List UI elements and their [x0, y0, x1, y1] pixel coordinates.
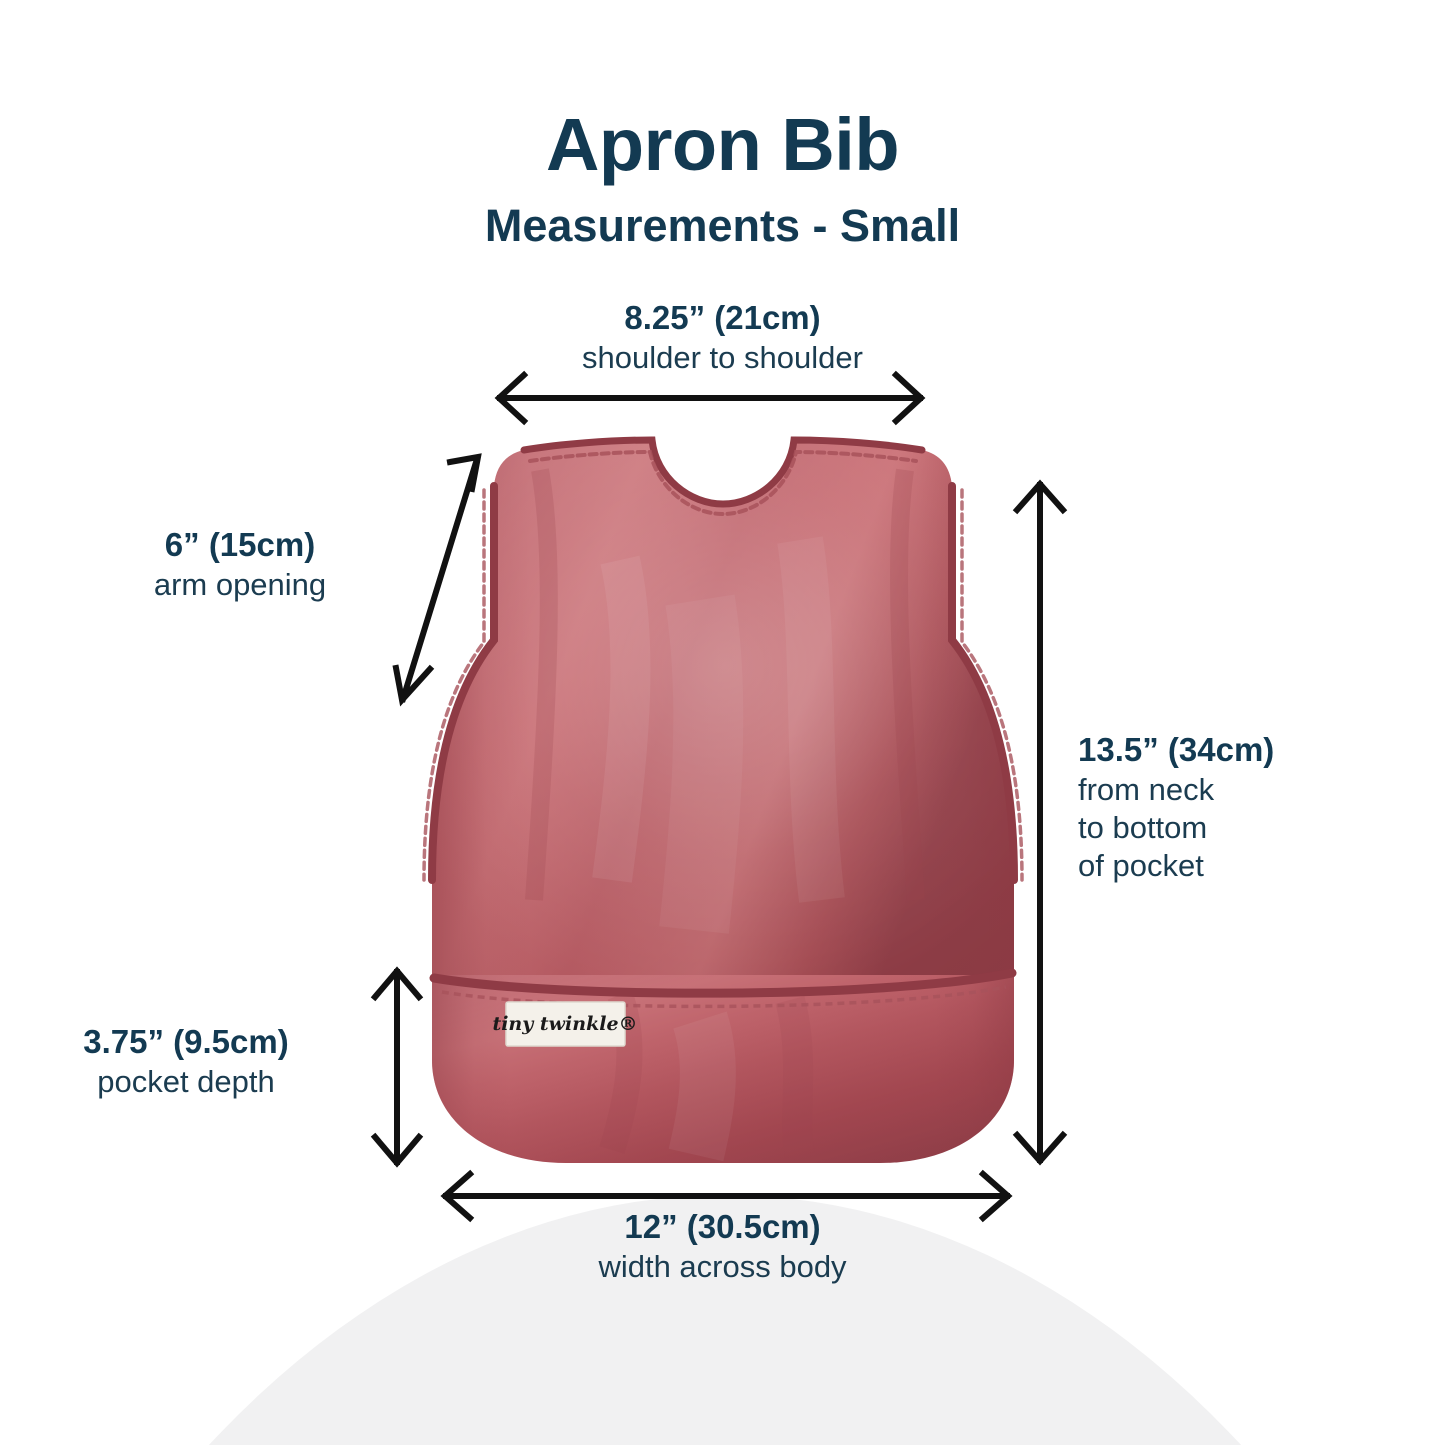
- arrow-width-across-body: [445, 1174, 1008, 1218]
- arrow-shoulder-to-shoulder: [499, 375, 921, 421]
- arrow-arm-opening: [396, 457, 478, 700]
- arrow-pocket-depth: [375, 971, 419, 1163]
- dimension-arrows: [0, 0, 1445, 1445]
- measurement-diagram-page: Apron Bib Measurements - Small: [0, 0, 1445, 1445]
- arrow-neck-to-pocket: [1017, 484, 1063, 1161]
